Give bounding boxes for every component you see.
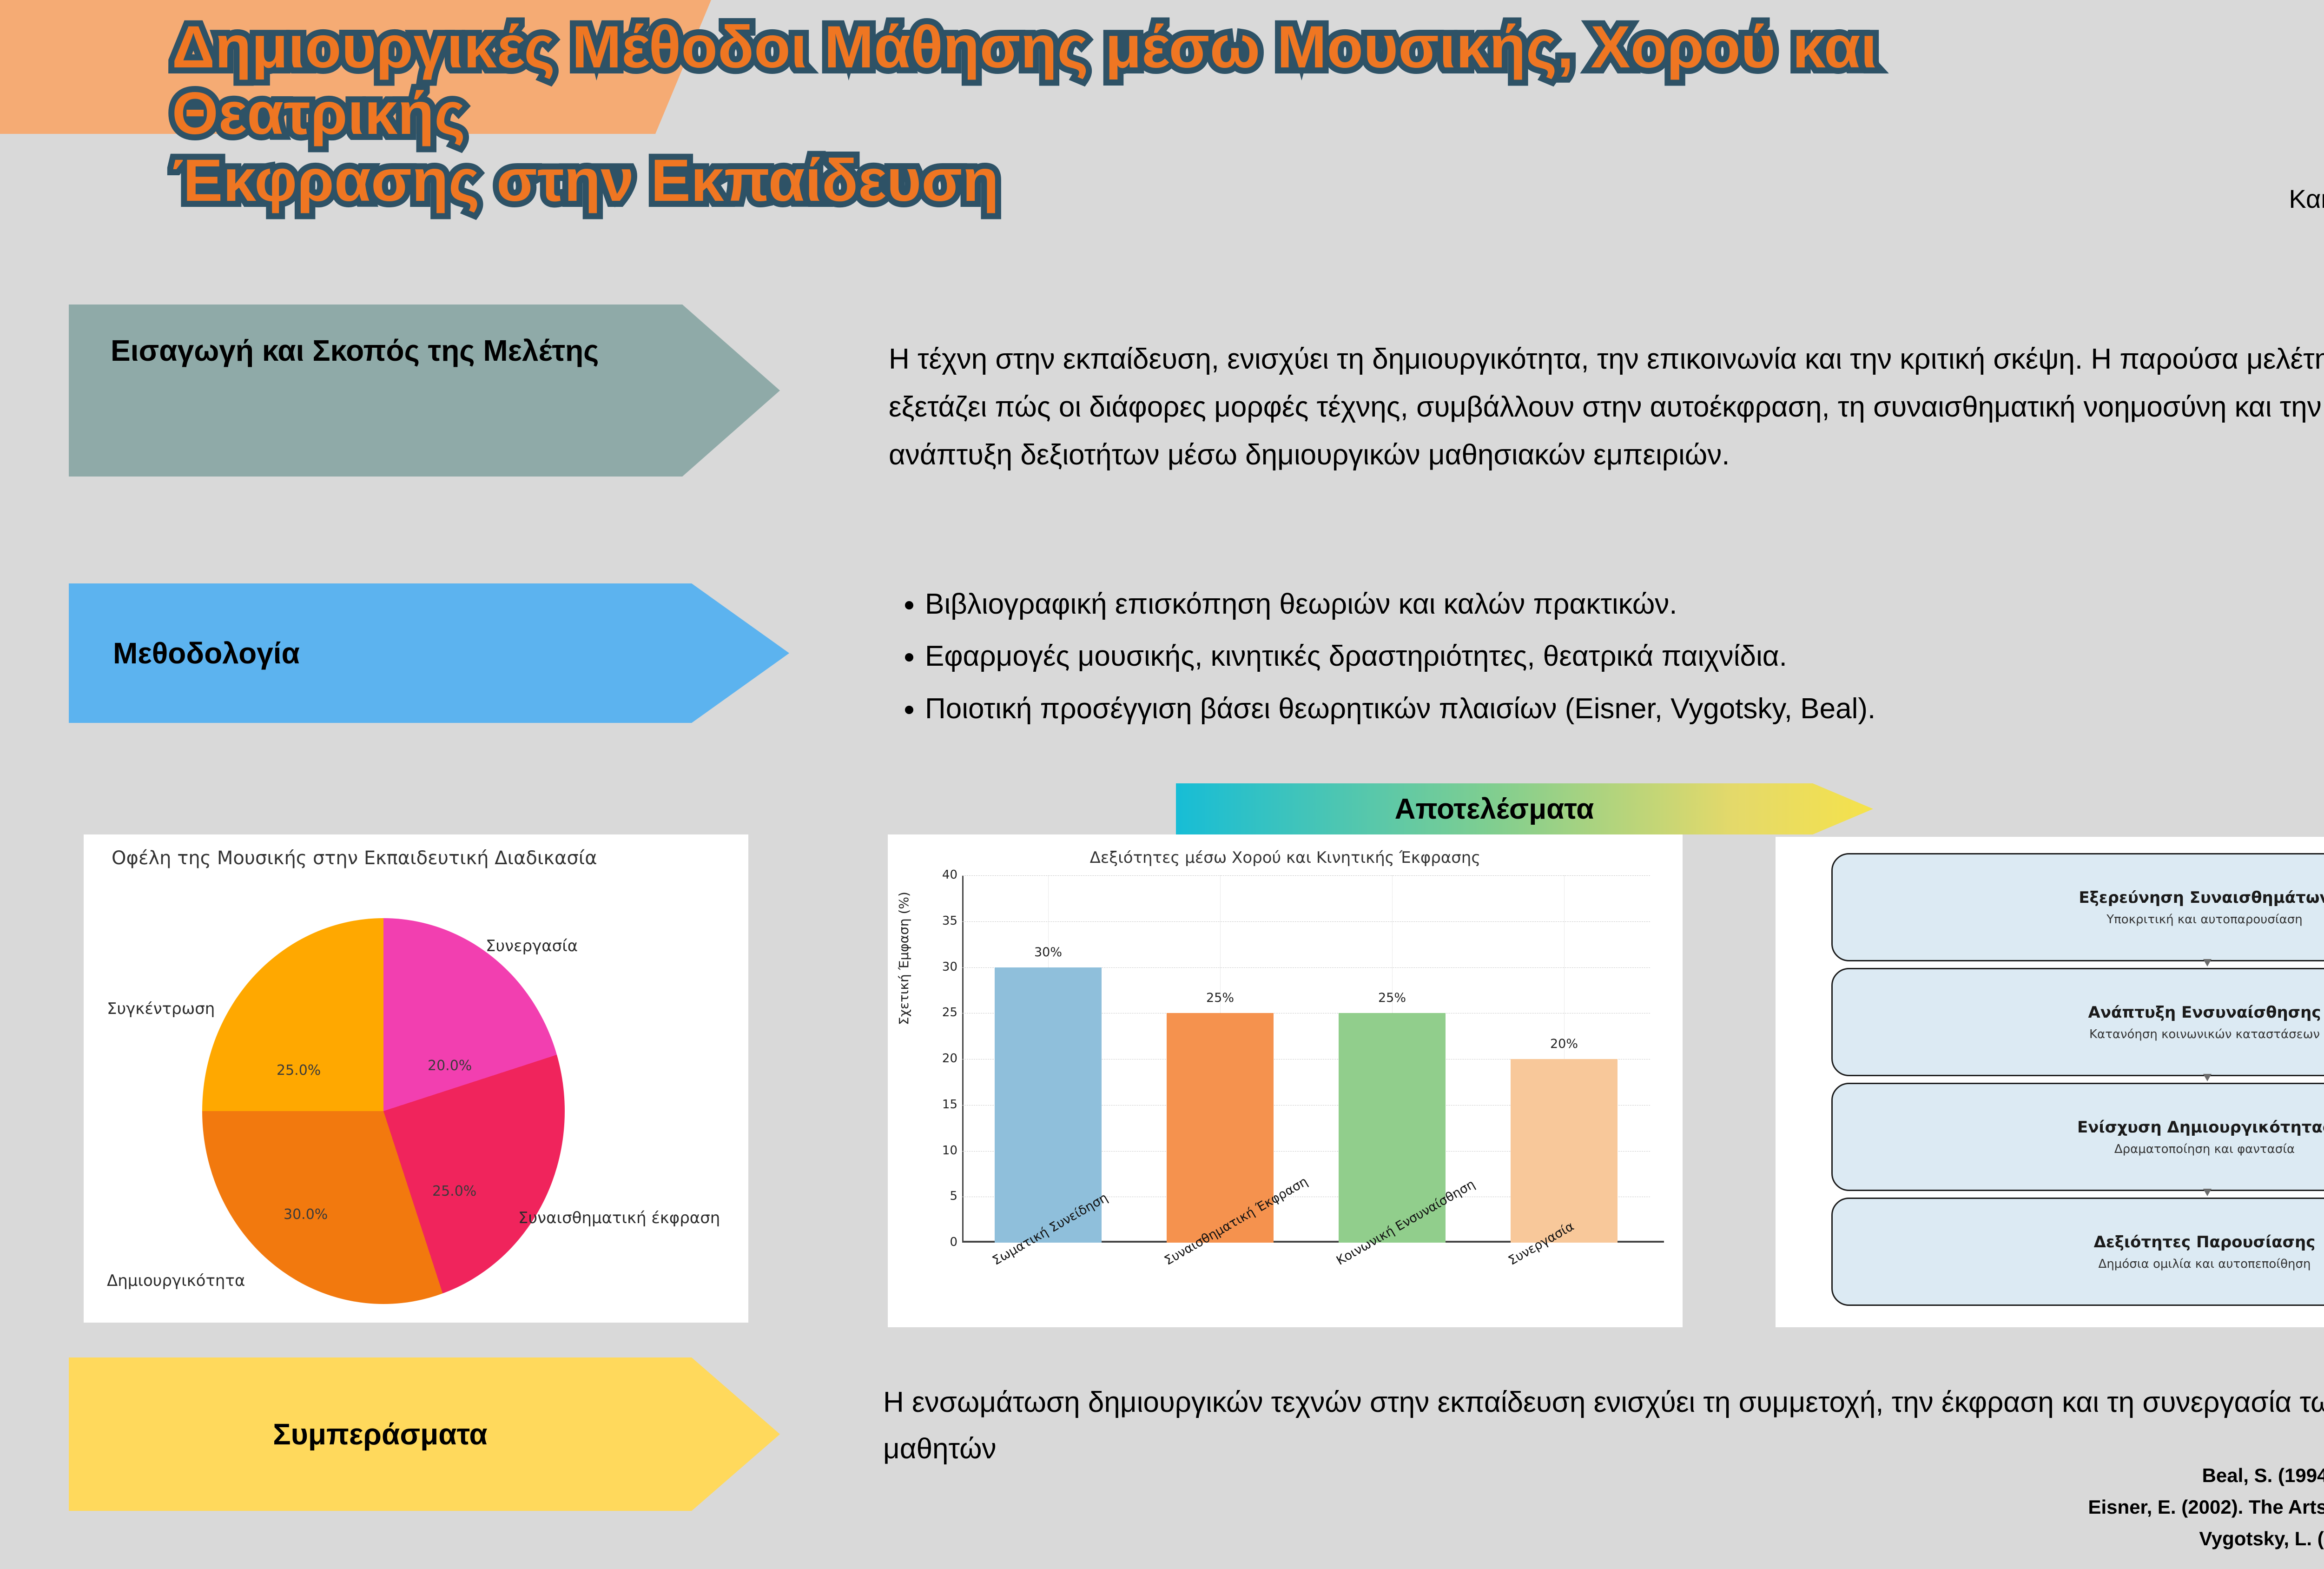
references-block: Beal, S. (1994). Movement for Creative C… [1729,1460,2324,1555]
flow-box: Δεξιότητες Παρουσίασης Δημόσια ομιλία κα… [1831,1198,2324,1306]
list-item: Ποιοτική προσέγγιση βάσει θεωρητικών πλα… [925,686,2324,732]
y-axis-tick-label: 5 [933,1189,957,1203]
flow-diagram-panel: Εξερεύνηση Συναισθημάτων Υποκριτική και … [1776,837,2324,1327]
y-axis-tick-label: 35 [933,914,957,928]
flow-box-title: Ανάπτυξη Ενσυναίσθησης [2088,1003,2321,1022]
flow-box-title: Εξερεύνηση Συναισθημάτων [2079,888,2324,907]
reference-item: Beal, S. (1994). Movement for Creative C… [1729,1460,2324,1491]
flow-box: Ανάπτυξη Ενσυναίσθησης Κατανόηση κοινωνι… [1831,968,2324,1076]
section-chip-introduction: Εισαγωγή και Σκοπός της Μελέτης [69,305,780,477]
pie-chart-area: 20.0% 25.0% 30.0% 25.0% Συνεργασία Συναι… [202,918,565,1304]
y-axis-tick-label: 10 [933,1144,957,1158]
pie-chart-panel: Οφέλη της Μουσικής στην Εκπαιδευτική Δια… [84,834,748,1323]
bar-chart-plot: 051015202530354030%Σωματική Συνείδηση25%… [962,875,1650,1243]
conclusions-paragraph: Η ενσωμάτωση δημιουργικών τεχνών στην εκ… [883,1379,2324,1473]
pie-value-label: 25.0% [277,1062,321,1079]
bar-chart-panel: Δεξιότητες μέσω Χορού και Κινητικής Έκφρ… [888,834,1683,1327]
authors-block: Κακογίαννη Ελένη, Πέτρου Αργυρώ ΔΔΕ Δωδε… [1676,179,2324,258]
methodology-bullet-list: Βιβλιογραφική επισκόπηση θεωριών και καλ… [889,581,2324,738]
arrow-down-icon [2203,1074,2212,1081]
authors-affiliation: ΔΔΕ Δωδεκανήσου [1676,218,2324,258]
flow-box-subtitle: Δημόσια ομιλία και αυτοπεποίθηση [2099,1257,2311,1271]
section-chip-methodology: Μεθοδολογία [69,583,789,723]
y-axis-tick-label: 0 [933,1235,957,1249]
bar-value-label: 20% [1511,1037,1617,1051]
arrow-down-icon [2203,1189,2212,1196]
arrow-down-icon [2203,959,2212,967]
flow-box-title: Δεξιότητες Παρουσίασης [2094,1233,2316,1251]
pie-slices [202,918,565,1304]
pie-value-label: 30.0% [284,1206,328,1223]
y-axis-tick-label: 25 [933,1006,957,1020]
bar-value-label: 25% [1167,991,1273,1005]
authors-names: Κακογίαννη Ελένη, Πέτρου Αργυρώ [1676,179,2324,218]
y-axis-tick-label: 15 [933,1098,957,1112]
introduction-paragraph: Η τέχνη στην εκπαίδευση, ενισχύει τη δημ… [889,336,2324,479]
flow-box: Ενίσχυση Δημιουργικότητας Δραματοποίηση … [1831,1083,2324,1191]
pie-value-label: 20.0% [428,1058,472,1074]
reference-item: Eisner, E. (2002). The Arts and the Crea… [1729,1491,2324,1523]
flow-box-title: Ενίσχυση Δημιουργικότητας [2077,1118,2324,1137]
list-item: Εφαρμογές μουσικής, κινητικές δραστηριότ… [925,633,2324,680]
bar-chart-area: Δεξιότητες μέσω Χορού και Κινητικής Έκφρ… [888,834,1683,1327]
section-chip-methodology-label: Μεθοδολογία [113,636,300,670]
pie-category-label: Συγκέντρωση [107,1000,215,1018]
y-axis-tick-label: 40 [933,868,957,882]
gridline [962,875,1650,876]
section-chip-results: Αποτελέσματα [1176,783,1873,834]
flow-box-subtitle: Υποκριτική και αυτοπαρουσίαση [2106,913,2302,927]
gridline [962,921,1650,922]
bar: 20% [1511,1059,1617,1243]
flow-box-subtitle: Δραματοποίηση και φαντασία [2114,1142,2295,1156]
bar-value-label: 30% [995,945,1101,960]
section-chip-conclusions-label: Συμπεράσματα [273,1417,488,1451]
bar-chart-y-axis-label: Σχετική Έμφαση (%) [896,892,911,1025]
list-item: Βιβλιογραφική επισκόπηση θεωριών και καλ… [925,581,2324,628]
section-chip-results-label: Αποτελέσματα [1395,793,1594,826]
bar-chart-title: Δεξιότητες μέσω Χορού και Κινητικής Έκφρ… [888,848,1683,867]
reference-item: Vygotsky, L. (1978). Mind in Society. Ha… [1729,1523,2324,1555]
pie-category-label: Συνεργασία [486,937,578,955]
pie-category-label: Συναισθηματική έκφραση [518,1209,720,1227]
section-chip-conclusions: Συμπεράσματα [69,1357,780,1511]
bar-value-label: 25% [1339,991,1445,1005]
flow-box: Εξερεύνηση Συναισθημάτων Υποκριτική και … [1831,853,2324,961]
pie-chart-title: Οφέλη της Μουσικής στην Εκπαιδευτική Δια… [112,847,597,869]
section-chip-introduction-label: Εισαγωγή και Σκοπός της Μελέτης [111,333,599,368]
pie-category-label: Δημιουργικότητα [107,1271,245,1290]
y-axis-tick-label: 20 [933,1052,957,1066]
poster-canvas: Δημιουργικές Μέθοδοι Μάθησης μέσω Μουσικ… [0,0,2324,1569]
flow-box-subtitle: Κατανόηση κοινωνικών καταστάσεων [2089,1027,2320,1041]
y-axis-tick-label: 30 [933,960,957,974]
pie-value-label: 25.0% [432,1183,476,1199]
